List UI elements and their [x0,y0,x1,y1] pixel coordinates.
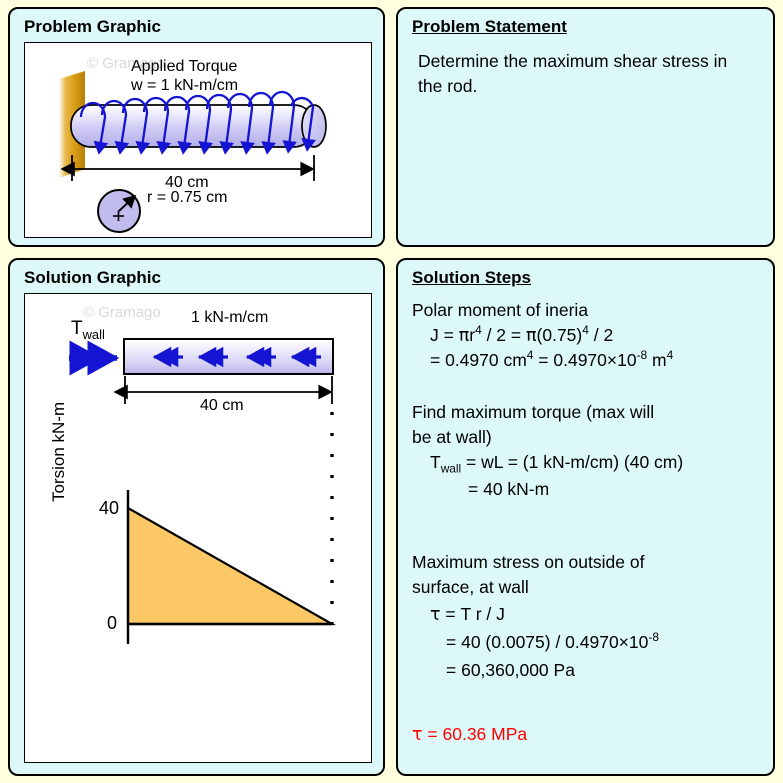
step2-heading-line2: be at wall) [412,425,492,450]
cross-section-circle [98,190,140,232]
step3-line2: = 40 (0.0075) / 0.4970×10-8 [446,630,659,655]
step1-line2: = 0.4970 cm4 = 0.4970×10-8 m4 [430,348,673,373]
twall-label: Twall [71,318,105,340]
step3-heading-line2: surface, at wall [412,575,529,600]
step1-heading: Polar moment of ineria [412,298,588,323]
torsion-tick-0: 0 [107,613,117,634]
torsion-area [128,508,332,624]
solution-steps-title: Solution Steps [412,268,531,288]
step3-heading-line1: Maximum stress on outside of [412,550,644,575]
torsion-axis-label: Torsion kN-m [49,402,69,502]
final-answer: τ = 60.36 MPa [412,722,527,748]
step1-line1: J = πr4 / 2 = π(0.75)4 / 2 [430,323,613,349]
torsion-diagram [128,490,332,644]
solution-graphic-title: Solution Graphic [24,268,161,288]
problem-statement-title: Problem Statement [412,17,567,37]
problem-graphic-panel: Problem Graphic © Gramago [8,7,385,247]
rod-body [71,105,326,147]
problem-graphic-canvas: © Gramago [24,42,372,238]
step2-heading-line1: Find maximum torque (max will [412,400,654,425]
problem-graphic-title: Problem Graphic [24,17,161,37]
torsion-tick-40: 40 [99,498,119,519]
solution-steps-panel: Solution Steps Polar moment of ineria J … [396,258,775,776]
applied-torque-label-line1: Applied Torque [131,58,237,76]
solution-beam-and-torsion-diagram [25,294,372,763]
solution-graphic-canvas: © Gramago [24,293,372,763]
step2-line1: Twall = wL = (1 kN-m/cm) (40 cm) [430,450,683,475]
problem-statement-text: Determine the maximum shear stress in th… [418,49,738,99]
problem-statement-panel: Problem Statement Determine the maximum … [396,7,775,247]
page-root: Problem Graphic © Gramago [0,0,783,783]
solution-graphic-panel: Solution Graphic © Gramago [8,258,385,776]
applied-torque-label-line2: w = 1 kN-m/cm [131,77,238,95]
distributed-torque-label: 1 kN-m/cm [191,309,268,327]
step3-line1: τ = T r / J [430,602,505,628]
step2-line2: = 40 kN-m [468,477,549,502]
step3-line3: = 60,360,000 Pa [446,658,575,683]
solution-length-label: 40 cm [200,397,244,415]
radius-label: r = 0.75 cm [147,189,227,207]
